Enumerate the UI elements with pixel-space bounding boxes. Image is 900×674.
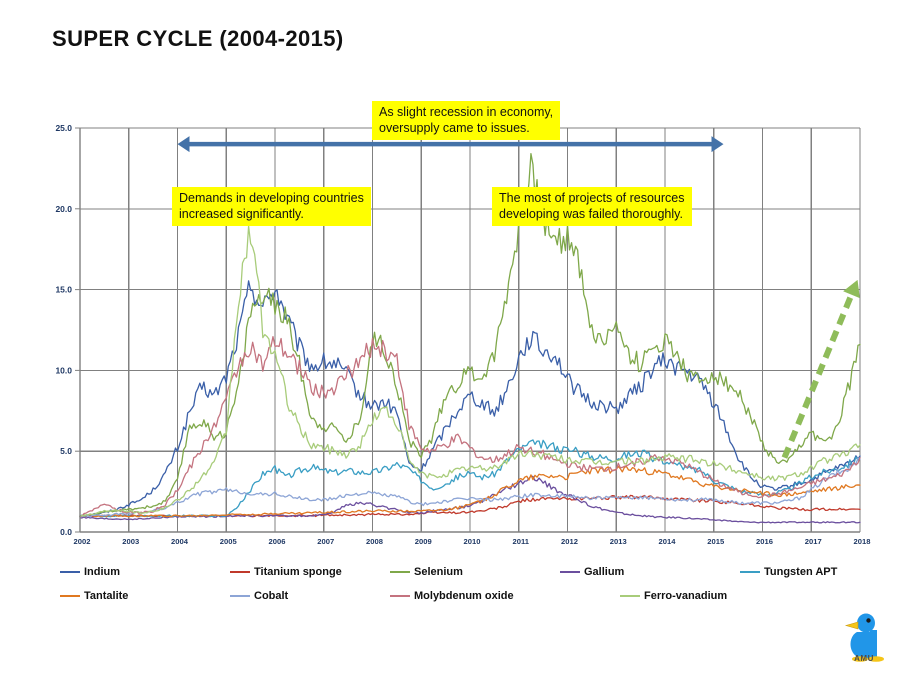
legend-swatch-icon [390, 595, 410, 597]
legend-item-gallium[interactable]: Gallium [560, 566, 624, 578]
legend-label: Selenium [414, 566, 463, 578]
x-tick-label: 2011 [513, 537, 530, 546]
legend-label: Titanium sponge [254, 566, 342, 578]
legend-label: Ferro-vanadium [644, 590, 727, 602]
x-tick-label: 2013 [610, 537, 627, 546]
legend-swatch-icon [60, 595, 80, 597]
x-tick-label: 2012 [561, 537, 578, 546]
annotation-recession: As slight recession in economy, oversupp… [372, 101, 560, 140]
legend-swatch-icon [230, 595, 250, 597]
legend-swatch-icon [60, 571, 80, 573]
legend-swatch-icon [230, 571, 250, 573]
annotation-projects: The most of projects of resources develo… [492, 187, 692, 226]
y-tick-label: 5.0 [60, 446, 72, 456]
x-tick-label: 2004 [171, 537, 189, 546]
legend-label: Gallium [584, 566, 624, 578]
x-tick-label: 2007 [317, 537, 334, 546]
x-tick-label: 2016 [756, 537, 773, 546]
legend-item-molybdenum-oxide[interactable]: Molybdenum oxide [390, 590, 514, 602]
legend-swatch-icon [620, 595, 640, 597]
x-tick-label: 2015 [707, 537, 725, 546]
legend-row: IndiumTitanium spongeSeleniumGalliumTung… [60, 560, 860, 584]
legend-swatch-icon [740, 571, 760, 573]
chart-plot: 0.05.010.015.020.025.0200220032004200520… [38, 100, 878, 570]
legend-label: Tantalite [84, 590, 128, 602]
legend-label: Molybdenum oxide [414, 590, 514, 602]
legend-item-tungsten-apt[interactable]: Tungsten APT [740, 566, 837, 578]
y-tick-label: 10.0 [55, 365, 72, 375]
x-tick-label: 2008 [366, 537, 383, 546]
legend-item-cobalt[interactable]: Cobalt [230, 590, 288, 602]
y-tick-label: 25.0 [55, 123, 72, 133]
legend-item-indium[interactable]: Indium [60, 566, 120, 578]
x-tick-label: 2006 [269, 537, 286, 546]
x-tick-label: 2005 [220, 537, 238, 546]
x-tick-label: 2009 [415, 537, 432, 546]
x-tick-label: 2002 [74, 537, 91, 546]
chart-legend: IndiumTitanium spongeSeleniumGalliumTung… [60, 560, 860, 608]
y-tick-label: 0.0 [60, 527, 72, 537]
legend-label: Indium [84, 566, 120, 578]
legend-swatch-icon [390, 571, 410, 573]
logo-caption: AMU [836, 654, 892, 663]
legend-label: Cobalt [254, 590, 288, 602]
x-tick-label: 2018 [854, 537, 871, 546]
legend-row: TantaliteCobaltMolybdenum oxideFerro-van… [60, 584, 860, 608]
slide-canvas: SUPER CYCLE (2004-2015) 0.05.010.015.020… [0, 0, 900, 674]
y-tick-label: 15.0 [55, 285, 72, 295]
y-tick-label: 20.0 [55, 204, 72, 214]
line-chart-svg: 0.05.010.015.020.025.0200220032004200520… [38, 100, 878, 570]
x-tick-label: 2010 [464, 537, 481, 546]
x-tick-label: 2017 [805, 537, 822, 546]
annotation-demands: Demands in developing countries increase… [172, 187, 371, 226]
legend-item-ferro-vanadium[interactable]: Ferro-vanadium [620, 590, 727, 602]
legend-item-titanium-sponge[interactable]: Titanium sponge [230, 566, 342, 578]
legend-item-tantalite[interactable]: Tantalite [60, 590, 128, 602]
legend-item-selenium[interactable]: Selenium [390, 566, 463, 578]
legend-swatch-icon [560, 571, 580, 573]
x-tick-label: 2014 [659, 537, 677, 546]
legend-label: Tungsten APT [764, 566, 837, 578]
page-title: SUPER CYCLE (2004-2015) [52, 26, 344, 52]
x-tick-label: 2003 [122, 537, 139, 546]
